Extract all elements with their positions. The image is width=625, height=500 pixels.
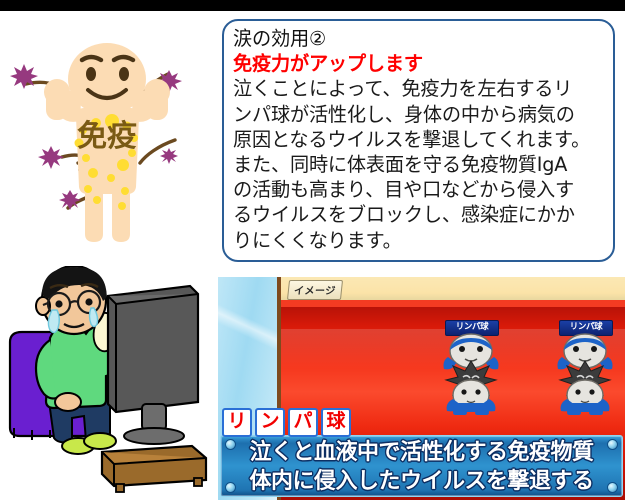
man-watching-tv-illustration [2,266,216,500]
tv-subtitle-plate: 泣くと血液中で活性化する免疫物質 体内に侵入したウイルスを撃退する [220,435,623,497]
image-label-chip: イメージ [287,280,343,300]
infobox-body-line-4: また、同時に体表面を守る免疫物質IgA [233,152,607,177]
immunity-body-label-line1: 免疫 [77,119,137,154]
tv-subtitle-line-1: 泣くと血液中で活性化する免疫物質 [221,436,622,467]
infobox-body-line-2: ンパ球が活性化し、身体の中から病気の [233,102,607,127]
tv-subtitle-line-2: 体内に侵入したウイルスを撃退する [221,467,622,496]
infobox-body-line-5: の活動も高まり、目や口などから侵入す [233,177,607,202]
subtitle-bolt-bottom-left [225,482,236,493]
man-hand [55,393,81,411]
lymphocyte-figure-left [439,333,503,415]
immunity-character-svg: 免疫 [0,22,218,260]
infobox-body-line-1: 泣くことによって、免疫力を左右するリ [233,76,607,101]
lymphocyte-group-right: リンパ球 [553,320,617,416]
subtitle-bolt-top-left [225,439,236,450]
subtitle-bolt-bottom-right [607,482,618,493]
infobox-body-line-7: りにくくなります。 [233,228,607,253]
lymphocyte-figure-right [553,333,617,415]
headline-chip-4: 球 [321,408,351,437]
lymphocyte-group-left: リンパ球 [439,320,503,416]
top-letterbox-bar [0,0,625,11]
tv-stand [102,446,206,492]
man-head [36,266,107,334]
headline-chip-1: リ [222,408,252,437]
tv-red-divider [277,300,625,307]
virus-icon [38,146,64,169]
infobox-body-line-3: 原因となるウイルスを撃退してくれます。 [233,127,607,152]
headline-chip-2: ン [255,408,285,437]
infobox-body-line-6: るウイルスをブロックし、感染症にかか [233,202,607,227]
lympho-lower [561,380,610,415]
infobox-subheading: 免疫力がアップします [233,51,607,76]
television [108,286,198,444]
headline-chip-3: パ [288,408,318,437]
tv-screen-panel: イメージ リンパ球 [218,277,625,500]
virus-icon [10,64,38,89]
virus-icon [59,190,81,210]
headline-chip-row: リ ン パ 球 [222,408,351,437]
tear-drop [48,310,59,333]
virus-icon [160,148,178,164]
info-text-box: 涙の効用② 免疫力がアップします 泣くことによって、免疫力を左右するリ ンパ球が… [222,19,615,262]
subtitle-bolt-top-right [607,439,618,450]
infobox-heading: 涙の効用② [233,26,607,51]
lympho-lower [447,380,496,415]
man-watching-tv-svg [2,266,216,500]
immunity-character-illustration: 免疫 [0,22,218,260]
